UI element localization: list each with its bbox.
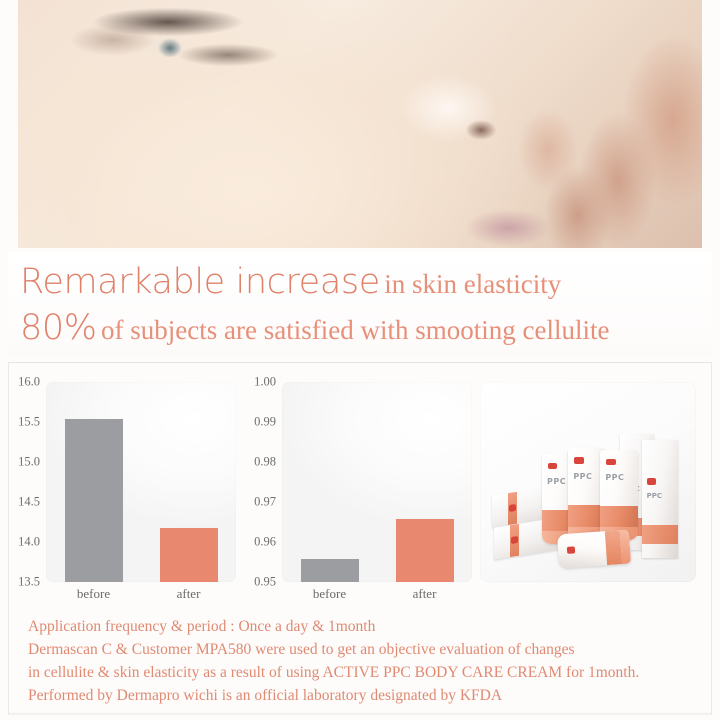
chart-1-ytick: 1.00 [254,375,276,390]
headline-line-1: Remarkable increase in skin elasticity [8,262,712,302]
headline-line-2: 80% of subjects are satisfied with smoot… [8,308,712,348]
chart-1-ytick: 0.98 [254,455,276,470]
footnote-line-1: Application frequency & period : Once a … [28,616,712,637]
chart-0-plot-area [46,382,236,582]
chart-1-ytick: 0.95 [254,575,276,590]
promo-page: Remarkable increase in skin elasticity 8… [0,0,720,720]
chart-1-ytick: 0.99 [254,415,276,430]
chart-0-ytick: 16.0 [18,375,40,390]
section-divider [8,362,712,363]
chart-0-ytick: 14.0 [18,535,40,550]
chart-0-y-axis: 16.015.515.014.514.013.5 [8,382,44,582]
headline-rest-2: of subjects are satisfied with smooting … [101,315,609,345]
footnote-line-3: in cellulite & skin elasticity as a resu… [28,662,712,683]
hero-photo [18,0,702,248]
headline-accent-2: 80% [20,308,97,348]
chart-0-ytick: 13.5 [18,575,40,590]
face-closeup-image [18,0,702,248]
chart-1-ytick: 0.96 [254,535,276,550]
headline-accent-1: Remarkable increase [20,262,380,302]
chart-0-ytick: 15.0 [18,455,40,470]
product-tube-3: PPC [600,450,638,540]
product-photo: PPC PPC PPC PPC PPC [480,382,696,582]
product-photo-block: PPC PPC PPC PPC PPC [480,372,712,604]
footnote-block: Application frequency & period : Once a … [8,608,712,708]
footnote-line-4: Performed by Dermapro wichi is an offici… [28,685,712,706]
chart-1-xlabel-before: before [313,586,346,602]
product-tube-lying [557,530,631,569]
bottom-shadow [8,713,712,716]
footnote-line-2: Dermascan C & Customer MPA580 were used … [28,639,712,660]
chart-1-xlabel-after: after [413,586,437,602]
chart-1-x-labels: beforeafter [282,586,472,608]
chart-0-xlabel-after: after [177,586,201,602]
chart-1-bar-before [301,559,359,582]
chart-1-y-axis: 1.000.990.980.970.960.95 [244,382,280,582]
headline-rest-1: in skin elasticity [384,269,561,299]
chart-1-bar-after [396,519,454,582]
chart-0-x-labels: beforeafter [46,586,236,608]
product-box-2: PPC [642,440,678,558]
chart-0-bar-before [65,419,123,582]
chart-cellulite: 1.000.990.980.970.960.95 beforeafter [244,372,480,604]
chart-0-ytick: 14.5 [18,495,40,510]
chart-0-ytick: 15.5 [18,415,40,430]
chart-0-xlabel-before: before [77,586,110,602]
chart-1-ytick: 0.97 [254,495,276,510]
results-panels: 16.015.515.014.514.013.5 beforeafter 1.0… [8,372,712,604]
headline-band: Remarkable increase in skin elasticity 8… [8,252,712,357]
chart-0-bar-after [160,528,218,582]
chart-elasticity: 16.015.515.014.514.013.5 beforeafter [8,372,244,604]
chart-1-plot-area [282,382,472,582]
